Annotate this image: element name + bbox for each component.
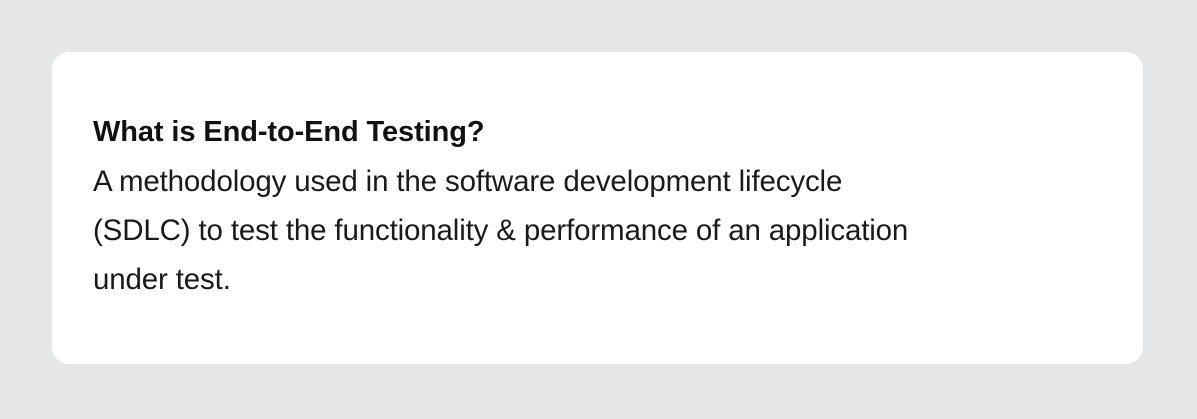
definition-title: What is End-to-End Testing? <box>93 108 1103 157</box>
definition-body-line-2: (SDLC) to test the functionality & perfo… <box>93 206 1103 255</box>
page-root: What is End-to-End Testing? A methodolog… <box>0 0 1197 419</box>
definition-card: What is End-to-End Testing? A methodolog… <box>52 52 1143 364</box>
definition-body: A methodology used in the software devel… <box>93 157 1103 304</box>
definition-body-line-1: A methodology used in the software devel… <box>93 157 1103 206</box>
definition-body-line-3: under test. <box>93 255 1103 304</box>
definition-card-content: What is End-to-End Testing? A methodolog… <box>93 108 1103 304</box>
